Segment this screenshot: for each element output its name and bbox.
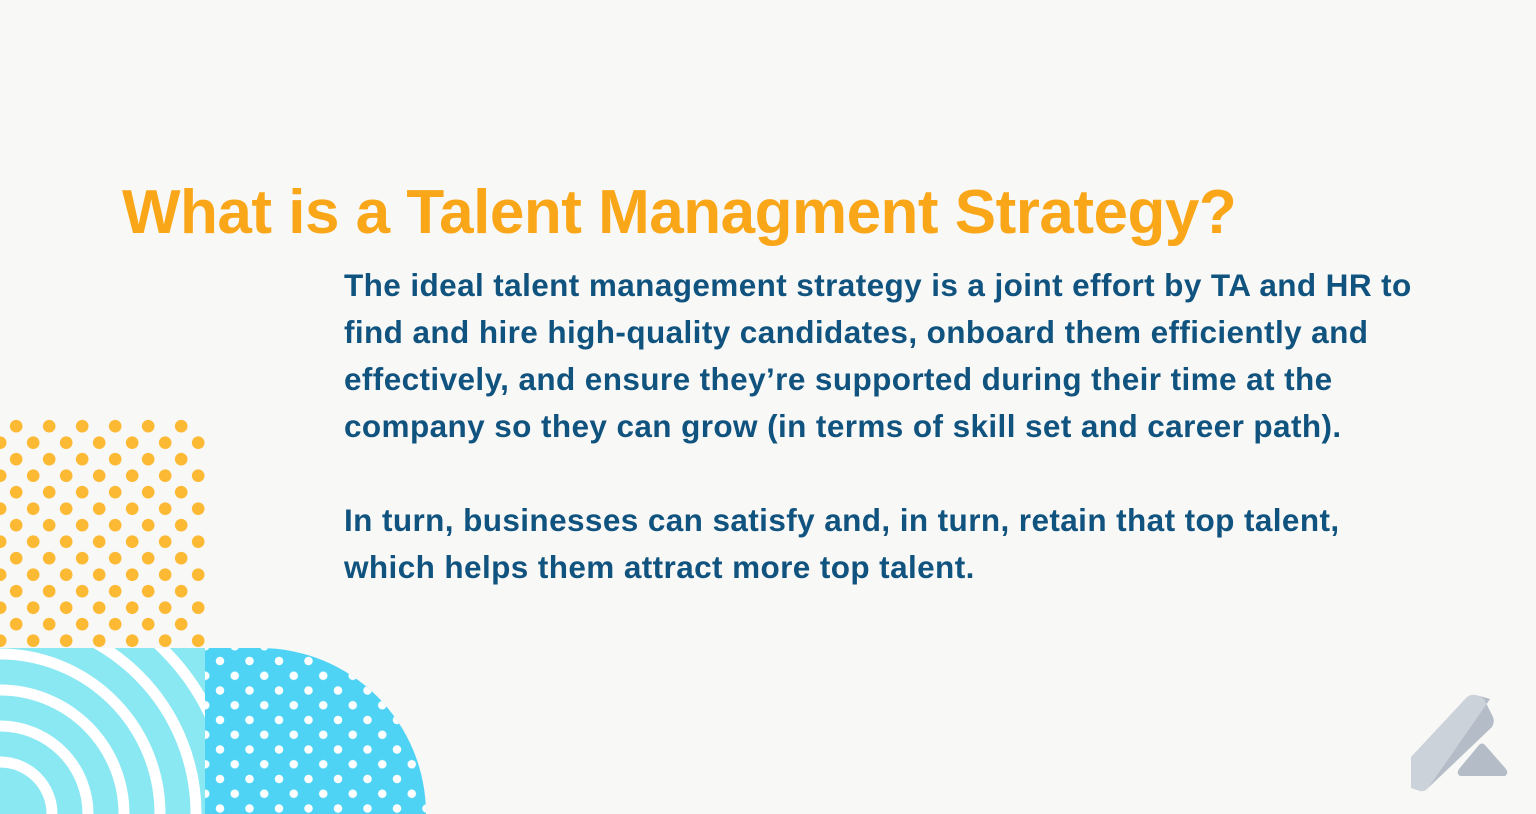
quarter-circle-dot-pattern bbox=[205, 648, 426, 814]
brand-logo-icon bbox=[1406, 684, 1518, 796]
page-title: What is a Talent Managment Strategy? bbox=[122, 181, 1482, 245]
cyan-arc-square-decoration bbox=[0, 648, 205, 814]
slide-canvas: What is a Talent Managment Strategy? The… bbox=[0, 0, 1536, 814]
body-paragraph-1: The ideal talent management strategy is … bbox=[344, 262, 1416, 450]
yellow-dot-grid-decoration bbox=[0, 418, 205, 648]
cyan-dotted-quarter-circle-decoration bbox=[205, 648, 426, 814]
body-copy: The ideal talent management strategy is … bbox=[344, 262, 1416, 591]
body-paragraph-2: In turn, businesses can satisfy and, in … bbox=[344, 497, 1416, 591]
